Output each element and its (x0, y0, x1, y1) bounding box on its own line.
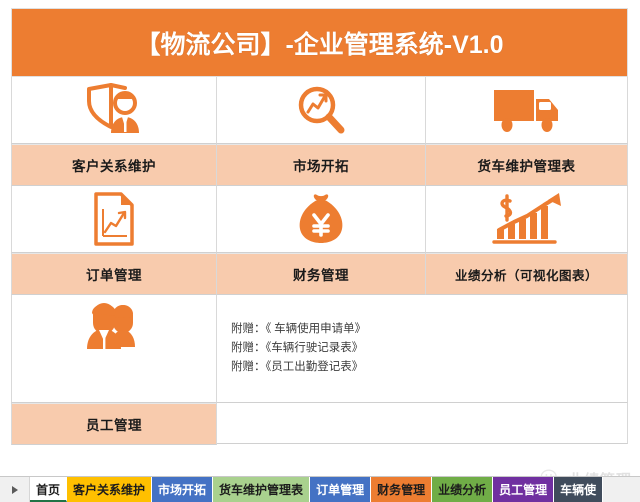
sheet-nav-right-button[interactable] (0, 477, 30, 502)
dashboard-title-banner: 【物流公司】-企业管理系统-V1.0 (11, 8, 628, 77)
appendix-cell: 附赠：《 车辆使用申请单》 附赠：《车辆行驶记录表》 附赠：《员工出勤登记表》 (217, 295, 628, 403)
sheet-tab-label: 客户关系维护 (73, 484, 145, 496)
sheet-tab-6[interactable]: 业绩分析 (432, 477, 493, 502)
module-cell-order-icon[interactable] (11, 186, 217, 253)
appendix-line-1: 附赠：《 车辆使用申请单》 (231, 320, 627, 339)
sheet-tab-label: 市场开拓 (158, 484, 206, 496)
sheet-tab-8[interactable]: 车辆使 (554, 477, 603, 502)
dashboard-grid: 【物流公司】-企业管理系统-V1.0 (11, 8, 628, 397)
module-grid: 客户关系维护 市场开拓 货车维护管理表 (11, 77, 628, 397)
module-row-3-icons: 附赠：《 车辆使用申请单》 附赠：《车辆行驶记录表》 附赠：《员工出勤登记表》 (11, 295, 628, 403)
module-label-cell-perf[interactable]: 业绩分析（可视化图表） (426, 253, 628, 295)
excel-home-sheet: 【物流公司】-企业管理系统-V1.0 (0, 0, 640, 502)
module-row-1-icons (11, 77, 628, 144)
sheet-tab-label: 员工管理 (499, 484, 547, 496)
module-row-2-labels: 订单管理 财务管理 业绩分析（可视化图表） (11, 253, 628, 295)
module-label-staff: 员工管理 (86, 414, 142, 434)
sheet-tab-7[interactable]: 员工管理 (493, 477, 554, 502)
module-label-market: 市场开拓 (293, 155, 349, 175)
module-label-perf: 业绩分析（可视化图表） (455, 265, 598, 284)
page-title: 【物流公司】-企业管理系统-V1.0 (135, 25, 503, 61)
shield-person-icon (81, 83, 147, 137)
module-cell-truck-icon[interactable] (426, 77, 628, 144)
module-label-finance: 财务管理 (293, 264, 349, 284)
module-cell-perf-icon[interactable] (426, 186, 628, 253)
two-people-icon (83, 303, 145, 353)
appendix-line-3: 附赠：《员工出勤登记表》 (231, 358, 627, 377)
sheet-tab-label: 业绩分析 (438, 484, 486, 496)
sheet-tab-0[interactable]: 首页 (30, 477, 67, 502)
module-row-3-labels: 员工管理 (11, 403, 628, 445)
module-label-cell-truck[interactable]: 货车维护管理表 (426, 144, 628, 186)
module-label-crm: 客户关系维护 (72, 155, 156, 175)
truck-icon (491, 85, 563, 135)
sheet-tab-3[interactable]: 货车维护管理表 (213, 477, 310, 502)
growth-bar-chart-icon (489, 191, 565, 247)
module-label-cell-staff[interactable]: 员工管理 (11, 403, 217, 445)
module-label-cell-finance[interactable]: 财务管理 (217, 253, 426, 295)
sheet-tabs: 首页客户关系维护市场开拓货车维护管理表订单管理财务管理业绩分析员工管理车辆使 (30, 477, 640, 502)
module-label-truck: 货车维护管理表 (478, 155, 576, 175)
sheet-tab-label: 财务管理 (377, 484, 425, 496)
module-label-order: 订单管理 (86, 264, 142, 284)
sheet-tab-2[interactable]: 市场开拓 (152, 477, 213, 502)
module-row-1-labels: 客户关系维护 市场开拓 货车维护管理表 (11, 144, 628, 186)
money-bag-yuan-icon (292, 191, 350, 247)
sheet-tab-label: 首页 (36, 484, 60, 496)
module-cell-finance-icon[interactable] (217, 186, 426, 253)
tab-scroll-right-icon (12, 486, 18, 494)
module-label-cell-market[interactable]: 市场开拓 (217, 144, 426, 186)
sheet-tab-label: 车辆使 (560, 484, 596, 496)
sheet-tab-label: 货车维护管理表 (219, 484, 303, 496)
appendix-line-2: 附赠：《车辆行驶记录表》 (231, 339, 627, 358)
module-label-cell-crm[interactable]: 客户关系维护 (11, 144, 217, 186)
module-row-2-icons (11, 186, 628, 253)
sheet-tab-bar: 首页客户关系维护市场开拓货车维护管理表订单管理财务管理业绩分析员工管理车辆使 (0, 476, 640, 502)
sheet-tab-5[interactable]: 财务管理 (371, 477, 432, 502)
module-cell-staff-icon[interactable] (11, 295, 217, 403)
module-label-cell-order[interactable]: 订单管理 (11, 253, 217, 295)
module-cell-crm-icon[interactable] (11, 77, 217, 144)
sheet-tab-4[interactable]: 订单管理 (310, 477, 371, 502)
module-cell-market-icon[interactable] (217, 77, 426, 144)
appendix-spacer-cell (217, 403, 628, 444)
sheet-tab-label: 订单管理 (316, 484, 364, 496)
document-chart-icon (90, 191, 138, 247)
magnifier-chart-icon (293, 83, 349, 137)
sheet-tab-1[interactable]: 客户关系维护 (67, 477, 152, 502)
